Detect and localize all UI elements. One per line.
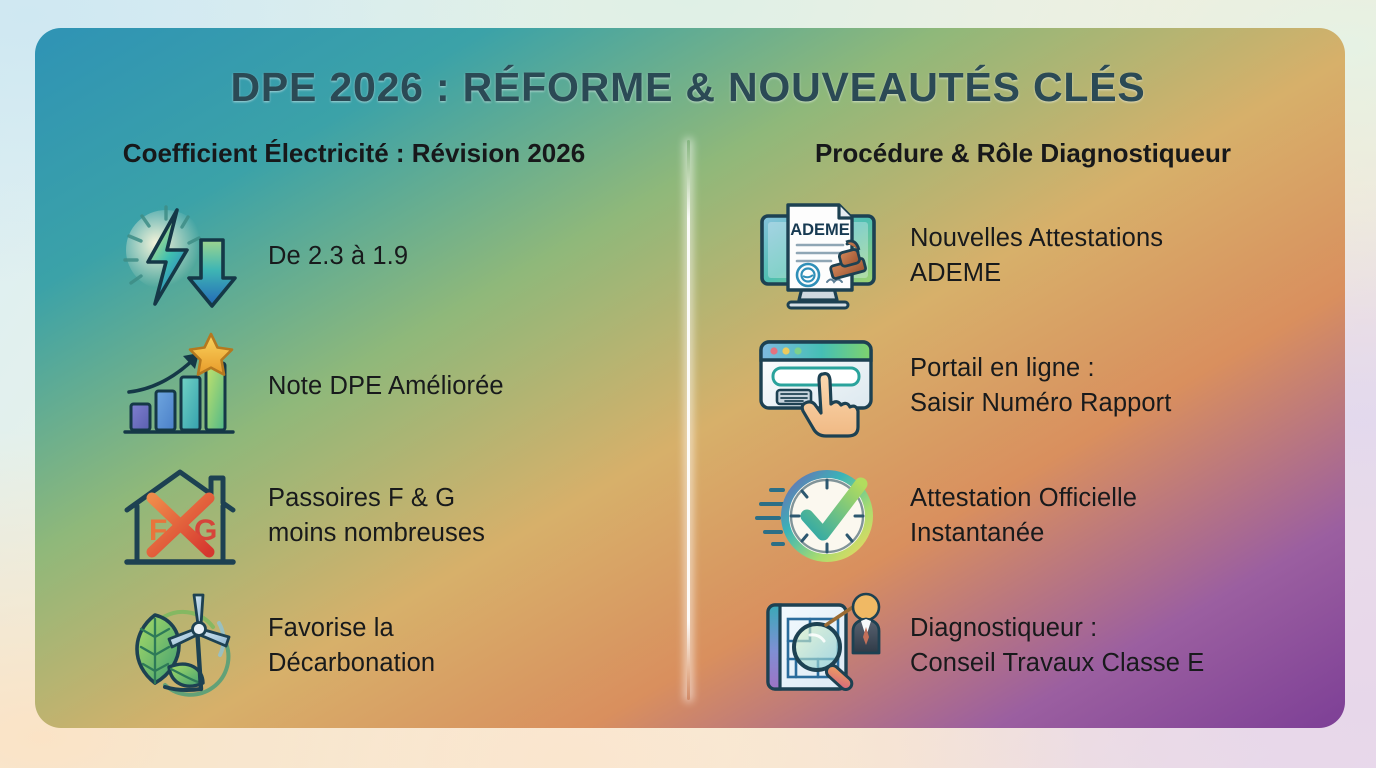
infographic-canvas: DPE 2026 : RÉFORME & NOUVEAUTÉS CLÉS Coe… <box>0 0 1376 768</box>
monitor-ademe-certificate-stamp-icon: ADEME <box>758 200 878 312</box>
list-item[interactable]: De 2.3 à 1.9 <box>52 193 664 319</box>
list-item-label: Favorise la Décarbonation <box>268 611 435 681</box>
list-item[interactable]: Portail en ligne : Saisir Numéro Rapport <box>714 323 1326 449</box>
blueprint-magnifier-inspector-icon <box>758 590 878 702</box>
list-item[interactable]: Diagnostiqueur : Conseil Travaux Classe … <box>714 583 1326 709</box>
bar-chart-growth-star-icon <box>120 330 240 442</box>
list-item-label: Portail en ligne : Saisir Numéro Rapport <box>910 351 1171 421</box>
page-title: DPE 2026 : RÉFORME & NOUVEAUTÉS CLÉS <box>0 64 1376 111</box>
list-item-label: Note DPE Améliorée <box>268 369 504 404</box>
list-item-label: Passoires F & G moins nombreuses <box>268 481 485 551</box>
list-item-label: De 2.3 à 1.9 <box>268 239 408 274</box>
right-column-heading: Procédure & Rôle Diagnostiqueur <box>714 138 1326 169</box>
clock-checkmark-speed-icon <box>758 460 878 572</box>
list-item-label: Diagnostiqueur : Conseil Travaux Classe … <box>910 611 1204 681</box>
right-column: Procédure & Rôle Diagnostiqueur <box>714 138 1326 708</box>
left-column-items: De 2.3 à 1.9 <box>52 193 664 709</box>
list-item[interactable]: Note DPE Améliorée <box>52 323 664 449</box>
leaf-wind-turbine-icon <box>120 590 240 702</box>
list-item[interactable]: F G Passoires F & G moins nombreuses <box>52 453 664 579</box>
column-divider <box>687 140 690 700</box>
list-item[interactable]: Attestation Officielle Instantanée <box>714 453 1326 579</box>
left-column-heading: Coefficient Électricité : Révision 2026 <box>52 138 664 169</box>
list-item-label: Nouvelles Attestations ADEME <box>910 221 1163 291</box>
browser-form-hand-cursor-icon <box>758 330 878 442</box>
ademe-document-label: ADEME <box>790 221 850 239</box>
left-column: Coefficient Électricité : Révision 2026 <box>52 138 664 708</box>
lightning-bolt-down-arrow-icon <box>120 200 240 312</box>
right-column-items: ADEME <box>714 193 1326 709</box>
house-f-g-crossed-out-icon: F G <box>120 460 240 572</box>
list-item-label: Attestation Officielle Instantanée <box>910 481 1137 551</box>
list-item[interactable]: Favorise la Décarbonation <box>52 583 664 709</box>
list-item[interactable]: ADEME <box>714 193 1326 319</box>
